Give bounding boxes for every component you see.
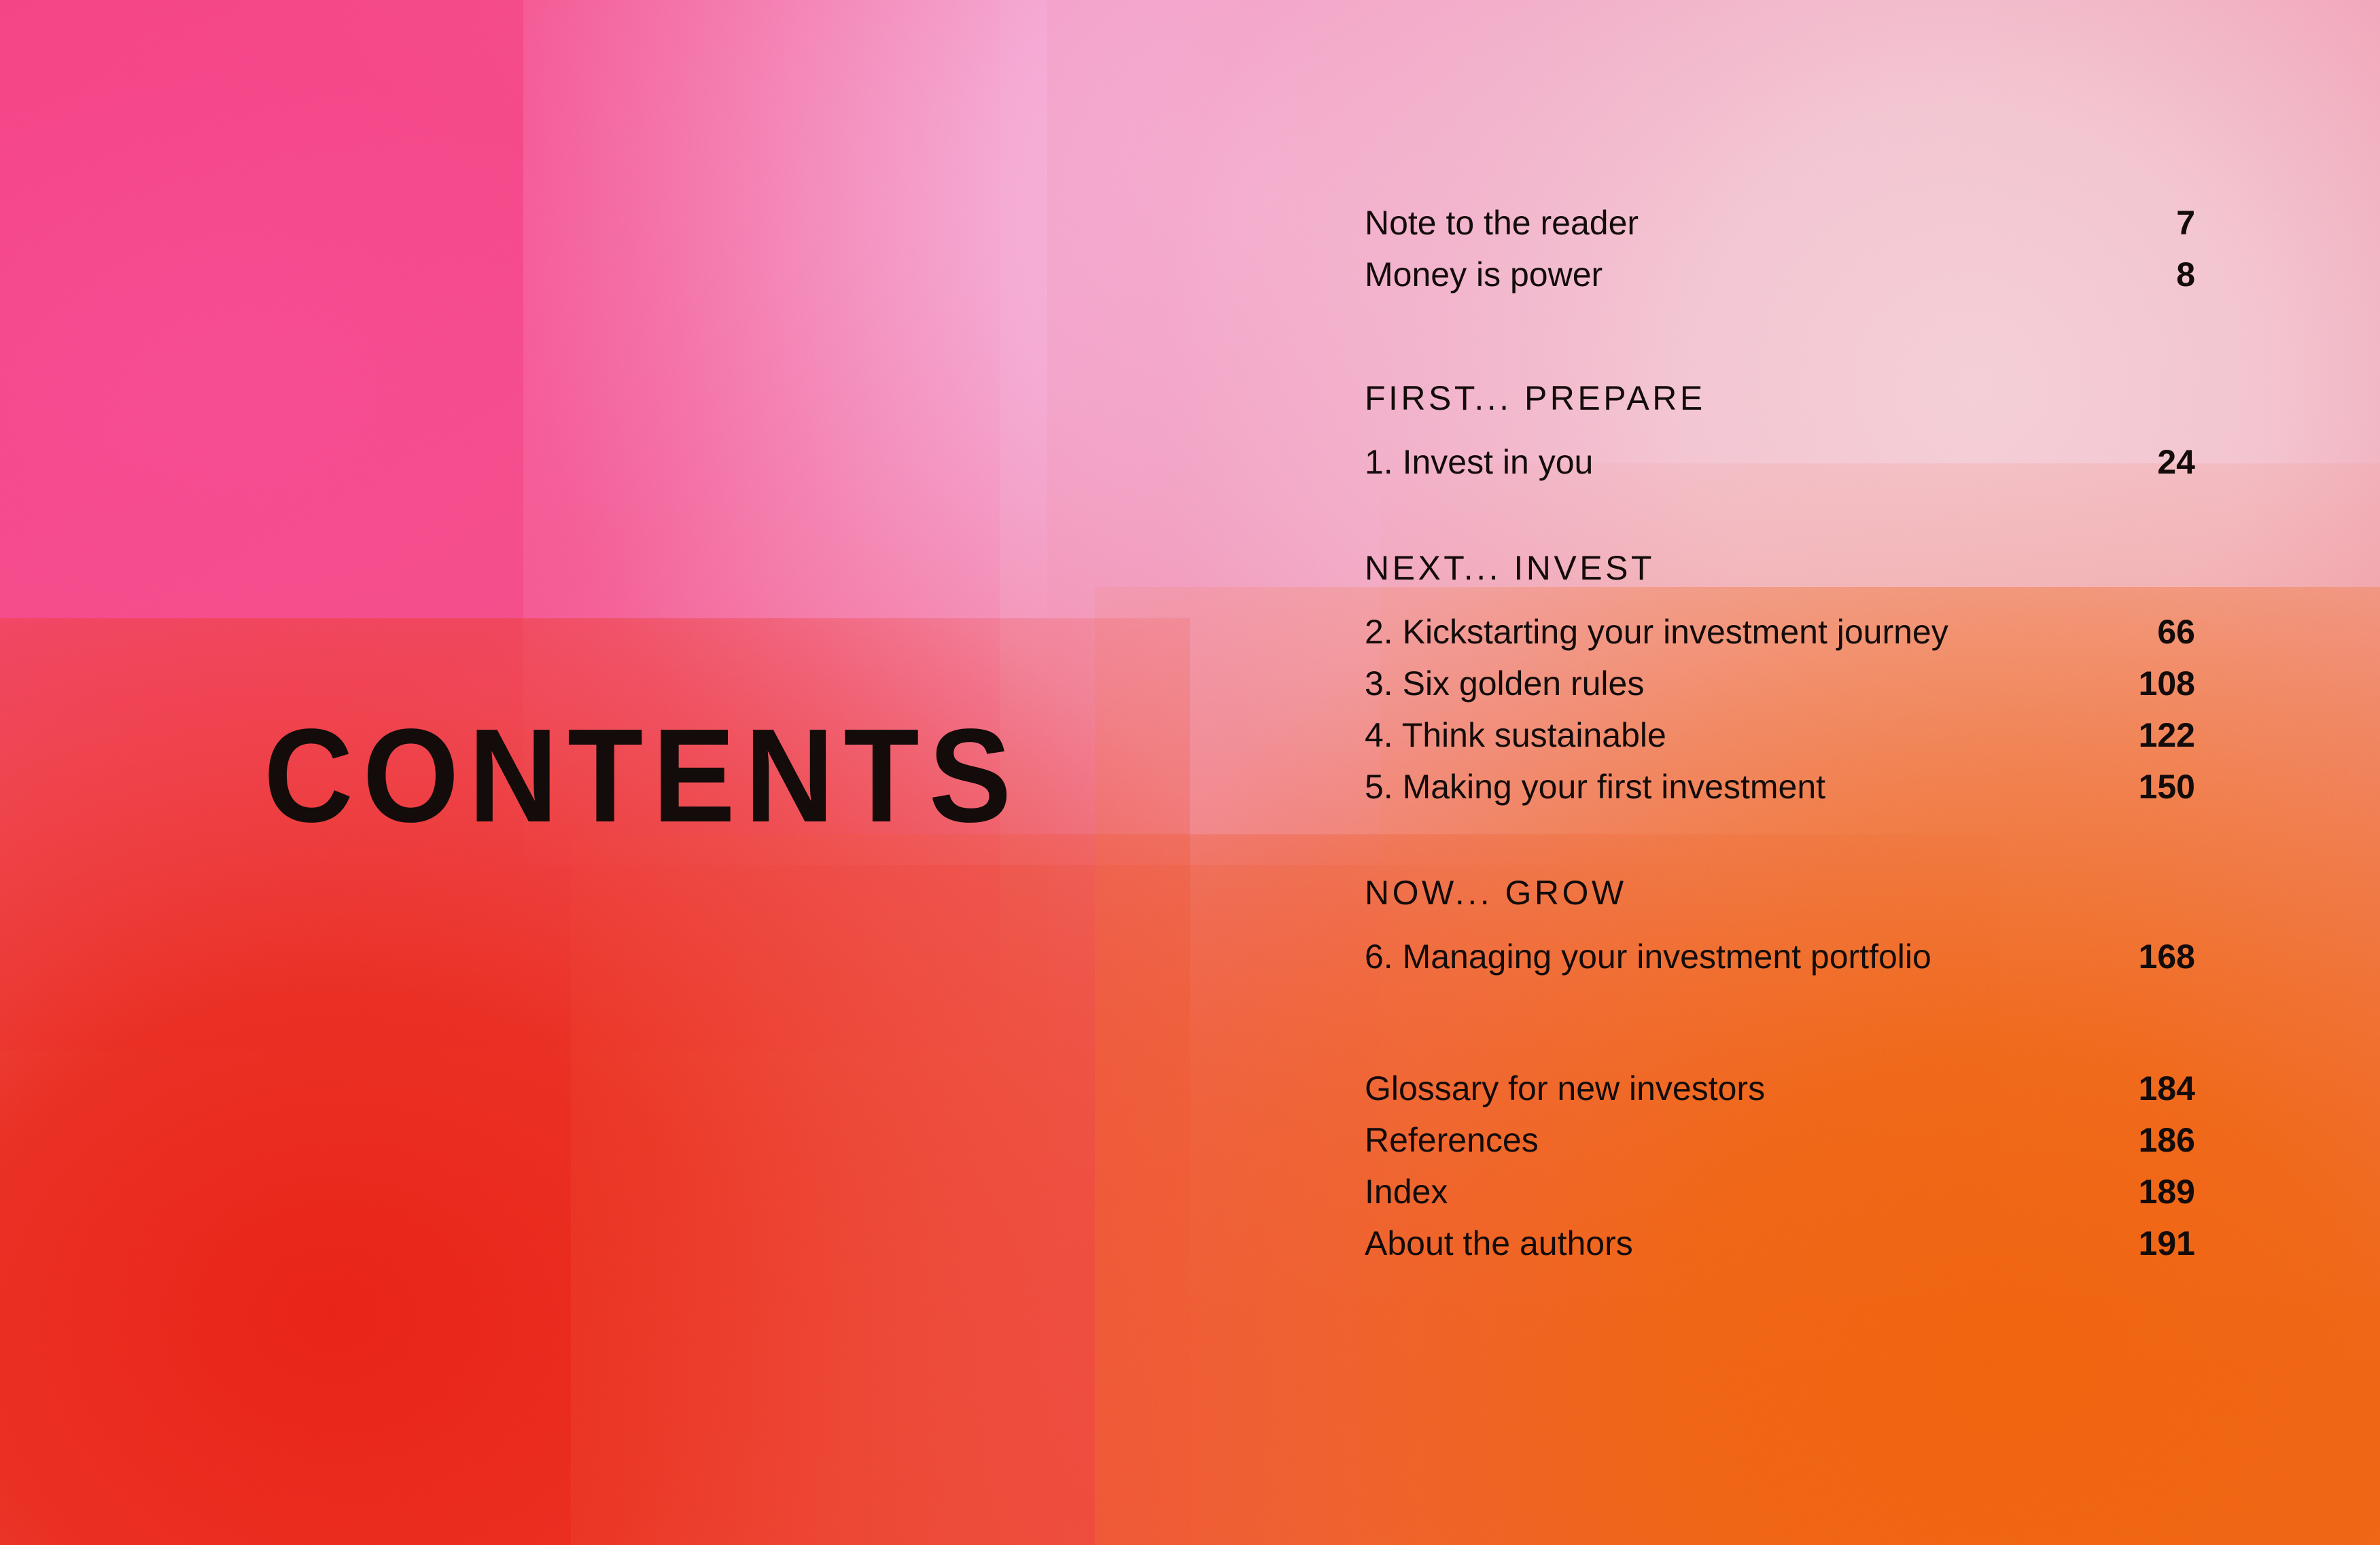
toc-section-heading: NOW... GROW — [1365, 875, 2195, 910]
toc-section-heading: NEXT... INVEST — [1365, 550, 2195, 586]
toc-section-now-grow: NOW... GROW 6. Managing your investment … — [1365, 875, 2195, 982]
toc-entry-page: 186 — [2139, 1114, 2195, 1166]
toc-entry-page: 66 — [2157, 606, 2195, 658]
toc-entry-page: 189 — [2139, 1166, 2195, 1218]
page-content: CONTENTS Note to the reader 7 Money is p… — [0, 0, 2380, 1545]
toc-row[interactable]: Index 189 — [1365, 1166, 2195, 1218]
toc-entry-label: 6. Managing your investment portfolio — [1365, 931, 1931, 982]
toc-row[interactable]: 5. Making your first investment 150 — [1365, 761, 2195, 813]
toc-entry-page: 184 — [2139, 1063, 2195, 1114]
spacer — [1365, 982, 2195, 1063]
toc-entry-page: 168 — [2139, 931, 2195, 982]
toc-entry-label: About the authors — [1365, 1218, 1633, 1269]
toc-row[interactable]: About the authors 191 — [1365, 1218, 2195, 1269]
toc-row[interactable]: 4. Think sustainable 122 — [1365, 709, 2195, 761]
toc-group-front-matter: Note to the reader 7 Money is power 8 — [1365, 197, 2195, 300]
toc-section-heading: FIRST... PREPARE — [1365, 380, 2195, 416]
toc-row[interactable]: Money is power 8 — [1365, 249, 2195, 300]
toc-entry-label: References — [1365, 1114, 1539, 1166]
toc-row[interactable]: Note to the reader 7 — [1365, 197, 2195, 249]
toc-entry-page: 122 — [2139, 709, 2195, 761]
toc-group-back-matter: Glossary for new investors 184 Reference… — [1365, 1063, 2195, 1269]
toc-entry-label: Note to the reader — [1365, 197, 1639, 249]
toc-entry-label: Index — [1365, 1166, 1448, 1218]
toc-row[interactable]: Glossary for new investors 184 — [1365, 1063, 2195, 1114]
toc-row[interactable]: 3. Six golden rules 108 — [1365, 658, 2195, 709]
spacer — [1365, 300, 2195, 380]
toc-row[interactable]: References 186 — [1365, 1114, 2195, 1166]
toc-entry-page: 150 — [2139, 761, 2195, 813]
toc-row[interactable]: 6. Managing your investment portfolio 16… — [1365, 931, 2195, 982]
toc-entry-page: 108 — [2139, 658, 2195, 709]
toc-entry-page: 191 — [2139, 1218, 2195, 1269]
page-title: CONTENTS — [264, 709, 1021, 842]
toc-entry-page: 8 — [2176, 249, 2195, 300]
toc-section-next-invest: NEXT... INVEST 2. Kickstarting your inve… — [1365, 550, 2195, 813]
toc-entry-label: 5. Making your first investment — [1365, 761, 1825, 813]
toc-row[interactable]: 2. Kickstarting your investment journey … — [1365, 606, 2195, 658]
toc-entry-label: 1. Invest in you — [1365, 436, 1593, 488]
contents-page: CONTENTS Note to the reader 7 Money is p… — [0, 0, 2380, 1545]
table-of-contents: Note to the reader 7 Money is power 8 FI… — [1365, 197, 2195, 1269]
toc-row[interactable]: 1. Invest in you 24 — [1365, 436, 2195, 488]
toc-entry-label: Money is power — [1365, 249, 1603, 300]
spacer — [1365, 488, 2195, 550]
toc-entry-label: 2. Kickstarting your investment journey — [1365, 606, 1948, 658]
spacer — [1365, 813, 2195, 875]
toc-entry-label: 4. Think sustainable — [1365, 709, 1666, 761]
toc-section-first-prepare: FIRST... PREPARE 1. Invest in you 24 — [1365, 380, 2195, 488]
toc-entry-label: 3. Six golden rules — [1365, 658, 1644, 709]
toc-entry-page: 7 — [2176, 197, 2195, 249]
toc-entry-page: 24 — [2157, 436, 2195, 488]
toc-entry-label: Glossary for new investors — [1365, 1063, 1765, 1114]
